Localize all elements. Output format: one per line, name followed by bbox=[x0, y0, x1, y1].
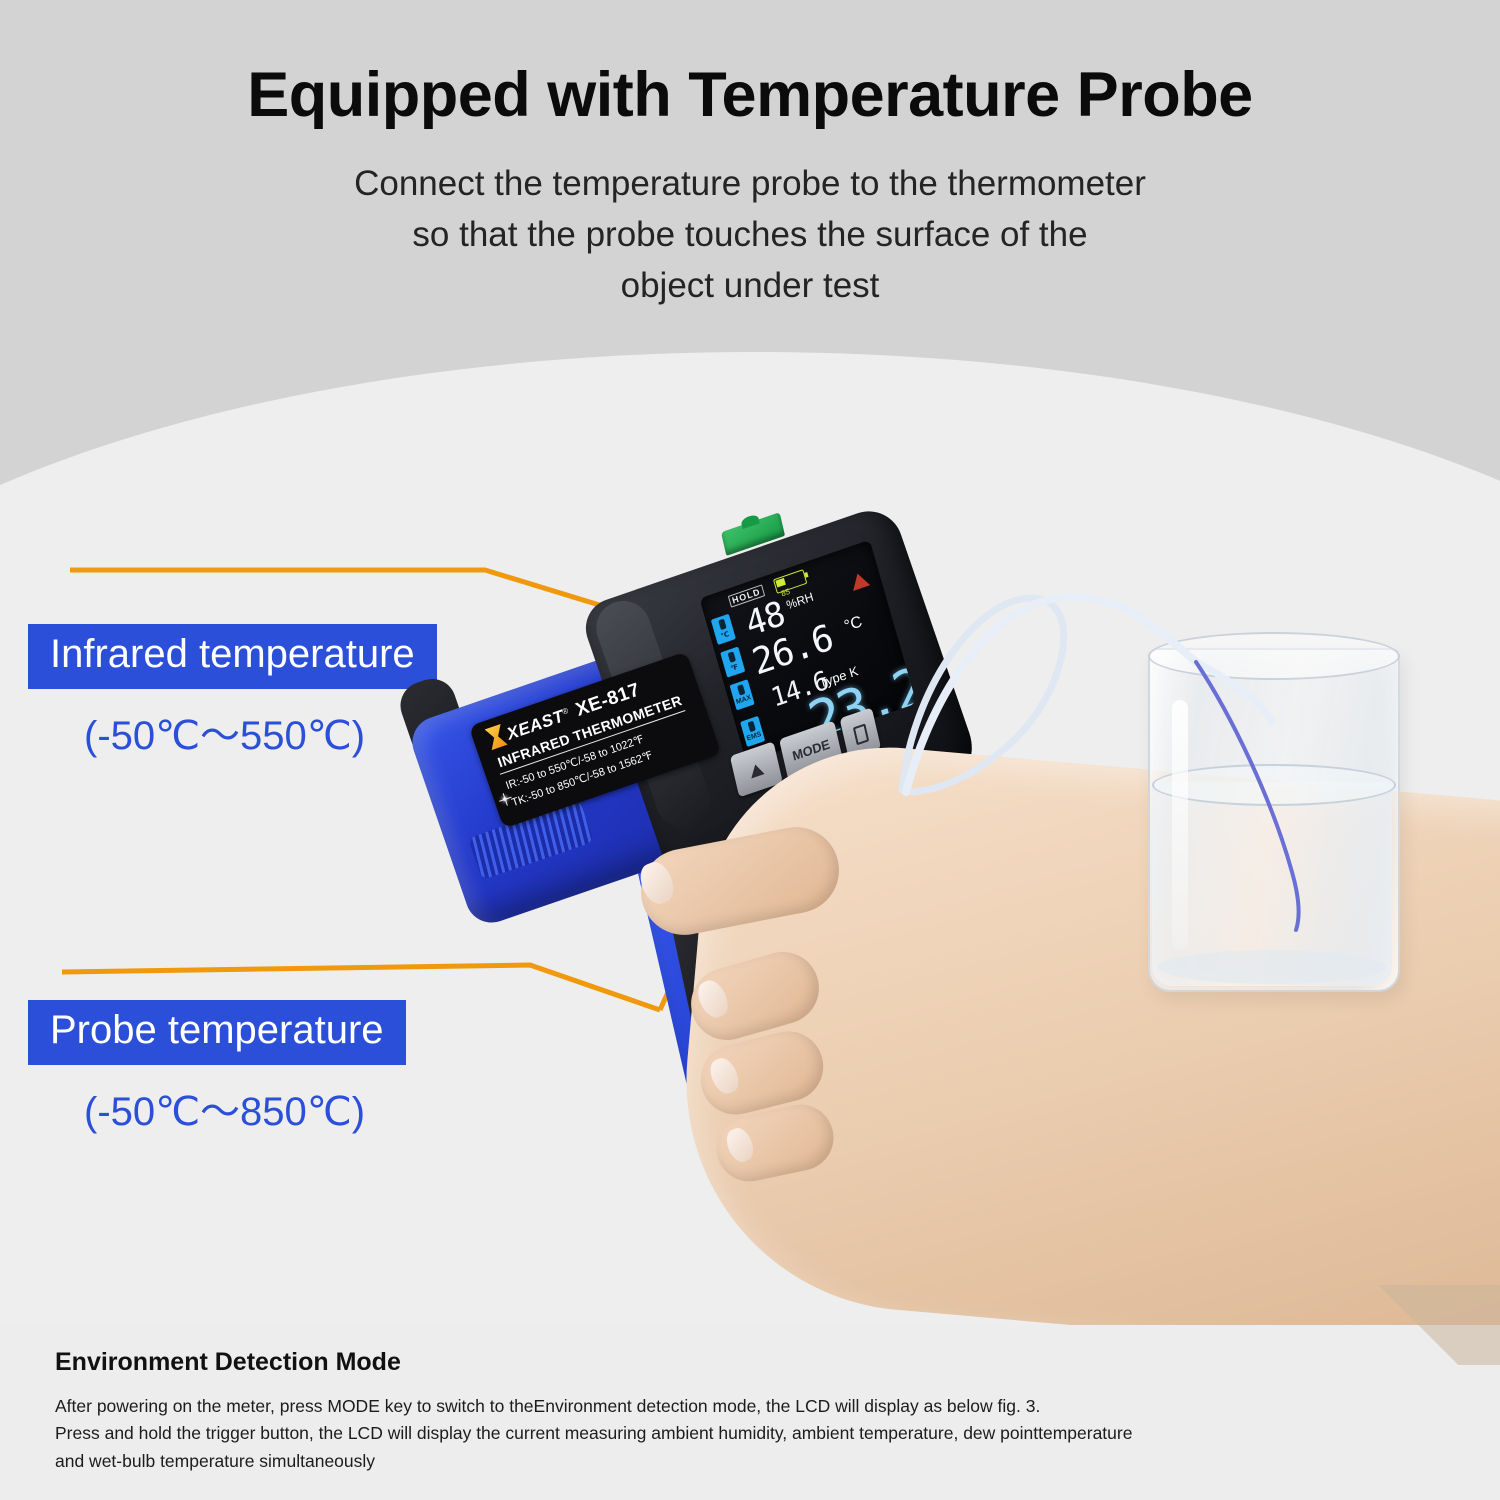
lcd-tile-celsius: ℃ bbox=[711, 614, 736, 645]
footer-body: After powering on the meter, press MODE … bbox=[55, 1377, 1395, 1475]
glass-waterline bbox=[1152, 764, 1396, 806]
footer-line-2: Press and hold the trigger button, the L… bbox=[55, 1423, 1132, 1443]
footer-line-1: After powering on the meter, press MODE … bbox=[55, 1396, 1040, 1416]
temperature-unit: °C bbox=[842, 613, 864, 636]
footer-heading: Environment Detection Mode bbox=[55, 1348, 1395, 1377]
subtitle-line-2: so that the probe touches the surface of… bbox=[412, 215, 1087, 254]
callout-label-infrared: Infrared temperature bbox=[28, 624, 437, 689]
flashlight-icon bbox=[852, 723, 868, 745]
lcd-tile-emissivity: EMS bbox=[740, 716, 765, 747]
laser-icon bbox=[749, 762, 765, 778]
header: Equipped with Temperature Probe Connect … bbox=[0, 0, 1500, 311]
lcd-tile-fahrenheit: ℉ bbox=[720, 646, 745, 677]
callout-label-probe: Probe temperature bbox=[28, 1000, 406, 1065]
callout-range-probe: (-50℃～850℃) bbox=[28, 1065, 406, 1137]
battery-icon bbox=[773, 569, 807, 594]
subtitle-line-1: Connect the temperature probe to the the… bbox=[354, 164, 1146, 203]
footer-text-block: Environment Detection Mode After powerin… bbox=[55, 1348, 1395, 1475]
glass-rim bbox=[1148, 632, 1400, 680]
callout-infrared-temperature: Infrared temperature (-50℃～550℃) bbox=[28, 624, 437, 761]
infographic-canvas: Equipped with Temperature Probe Connect … bbox=[0, 0, 1500, 1500]
lcd-tile-max: MAX bbox=[730, 679, 755, 710]
page-subtitle: Connect the temperature probe to the the… bbox=[0, 128, 1500, 311]
callout-range-infrared: (-50℃～550℃) bbox=[28, 689, 437, 761]
alarm-icon bbox=[849, 571, 870, 591]
callout-probe-temperature: Probe temperature (-50℃～850℃) bbox=[28, 1000, 406, 1137]
subtitle-line-3: object under test bbox=[621, 266, 880, 305]
registered-mark: ® bbox=[561, 706, 570, 716]
footer-line-3: and wet-bulb temperature simultaneously bbox=[55, 1451, 375, 1471]
glass-base bbox=[1158, 950, 1386, 984]
battery-fill bbox=[775, 578, 785, 588]
glass-highlight bbox=[1172, 700, 1188, 950]
page-title: Equipped with Temperature Probe bbox=[0, 0, 1500, 128]
